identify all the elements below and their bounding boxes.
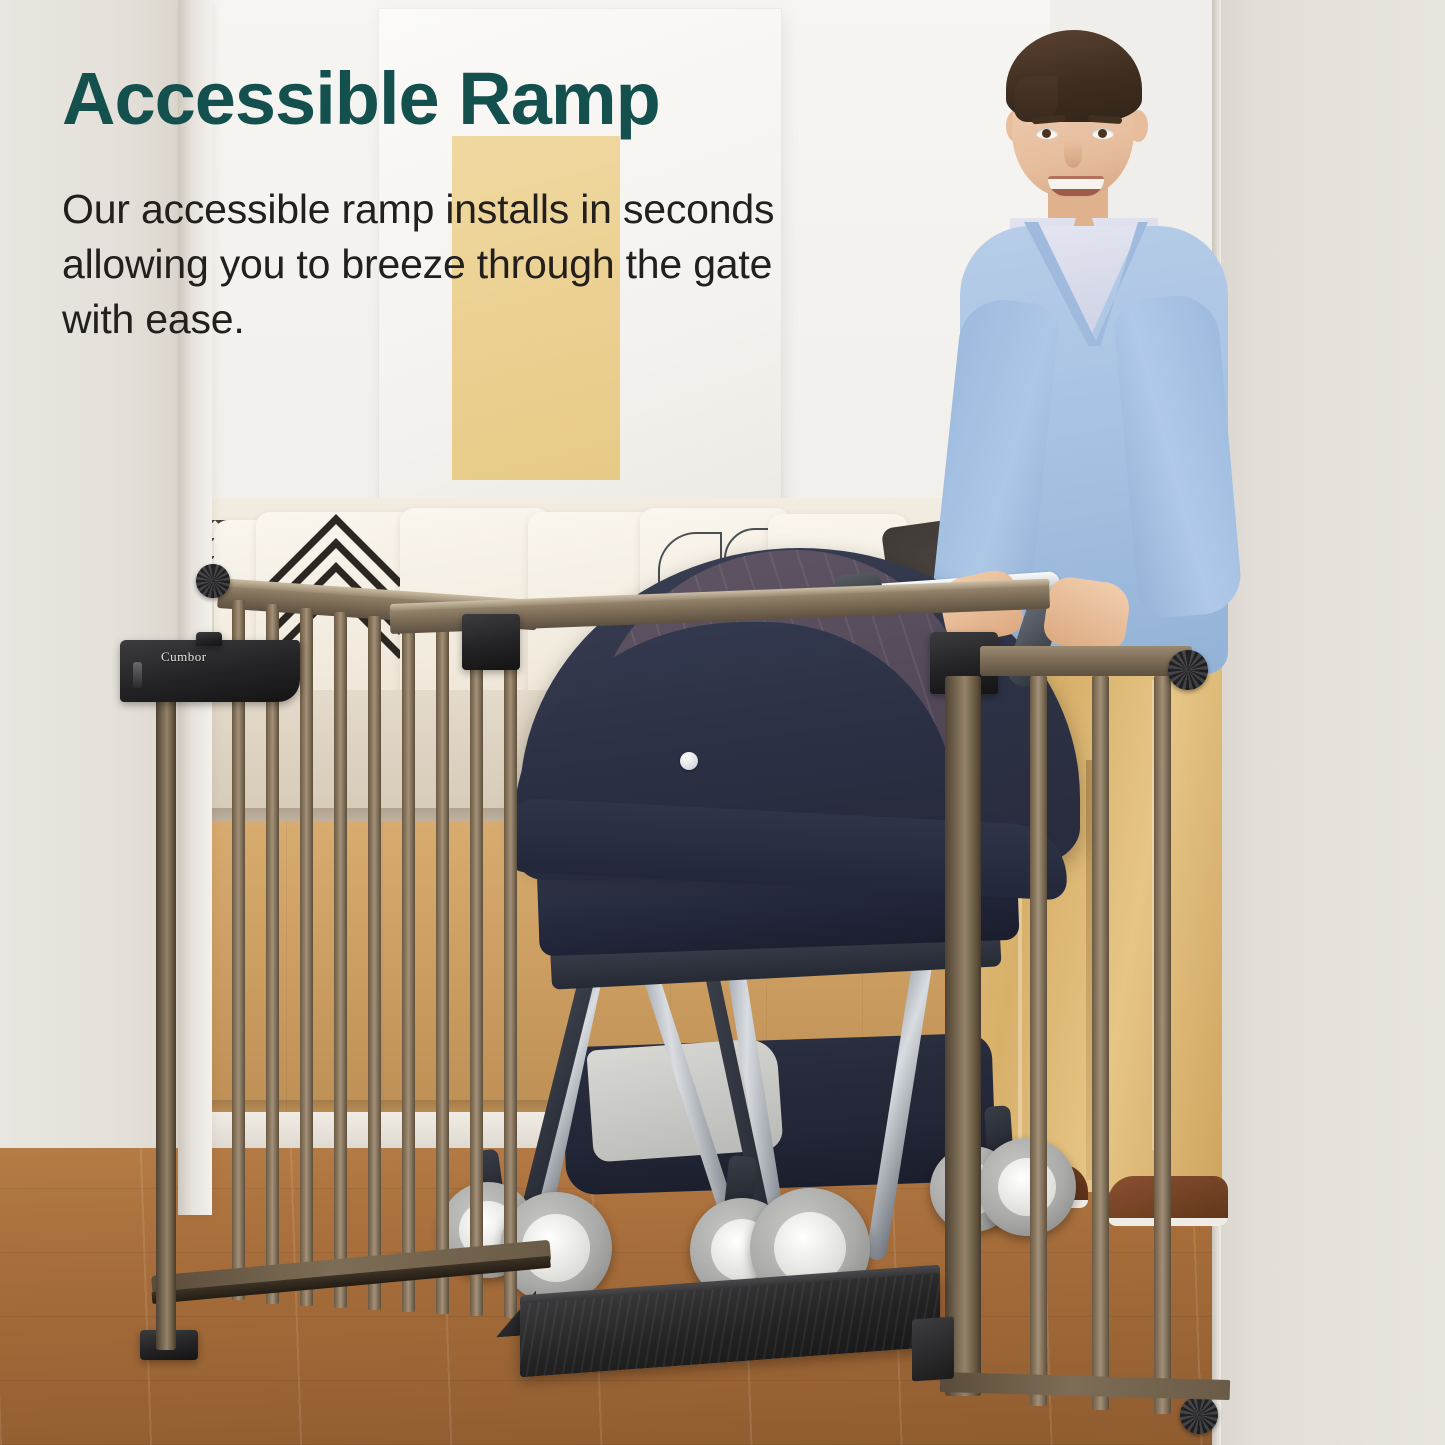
gate-hinge-bracket-left <box>462 614 520 670</box>
gate-bar <box>470 628 483 1316</box>
gate-bar <box>402 620 415 1312</box>
gate-pressure-knob-lower-right[interactable] <box>1180 1396 1218 1434</box>
page-title: Accessible Ramp <box>62 62 660 136</box>
brand-logo: Cumbor <box>161 649 207 665</box>
product-lifestyle-image: Cumbor Accessible Ramp Our accessible ra… <box>0 0 1445 1445</box>
gate-extension-bar <box>1154 676 1171 1414</box>
gate-bar <box>436 624 449 1314</box>
accessible-ramp-end-block <box>912 1317 954 1382</box>
gate-main-right-post <box>945 676 981 1396</box>
gate-pressure-knob-upper-right[interactable] <box>1168 650 1208 690</box>
gate-bar <box>232 600 245 1300</box>
gate-bar <box>368 616 381 1310</box>
latch-button[interactable] <box>196 632 222 646</box>
latch-indicator-slot <box>133 662 142 688</box>
gate-extension-bar <box>1030 676 1047 1406</box>
gate-bar <box>266 604 279 1304</box>
gate-pressure-knob-upper-left[interactable] <box>196 564 230 598</box>
gate-frame-bottom-rail <box>940 1372 1230 1400</box>
gate-extension-bar <box>1092 676 1109 1410</box>
gate-door-leading-post <box>156 690 176 1350</box>
gate-extension-top-rail <box>980 646 1192 676</box>
gate-latch-housing[interactable] <box>120 640 300 702</box>
knob-teeth <box>1180 1396 1218 1434</box>
page-subcopy: Our accessible ramp installs in seconds … <box>62 182 852 347</box>
accessible-ramp <box>520 1273 940 1378</box>
knob-teeth <box>196 564 230 598</box>
gate-bar <box>334 612 347 1308</box>
gate-bar <box>504 632 517 1318</box>
knob-teeth <box>1168 650 1208 690</box>
gate-bar <box>300 608 313 1306</box>
